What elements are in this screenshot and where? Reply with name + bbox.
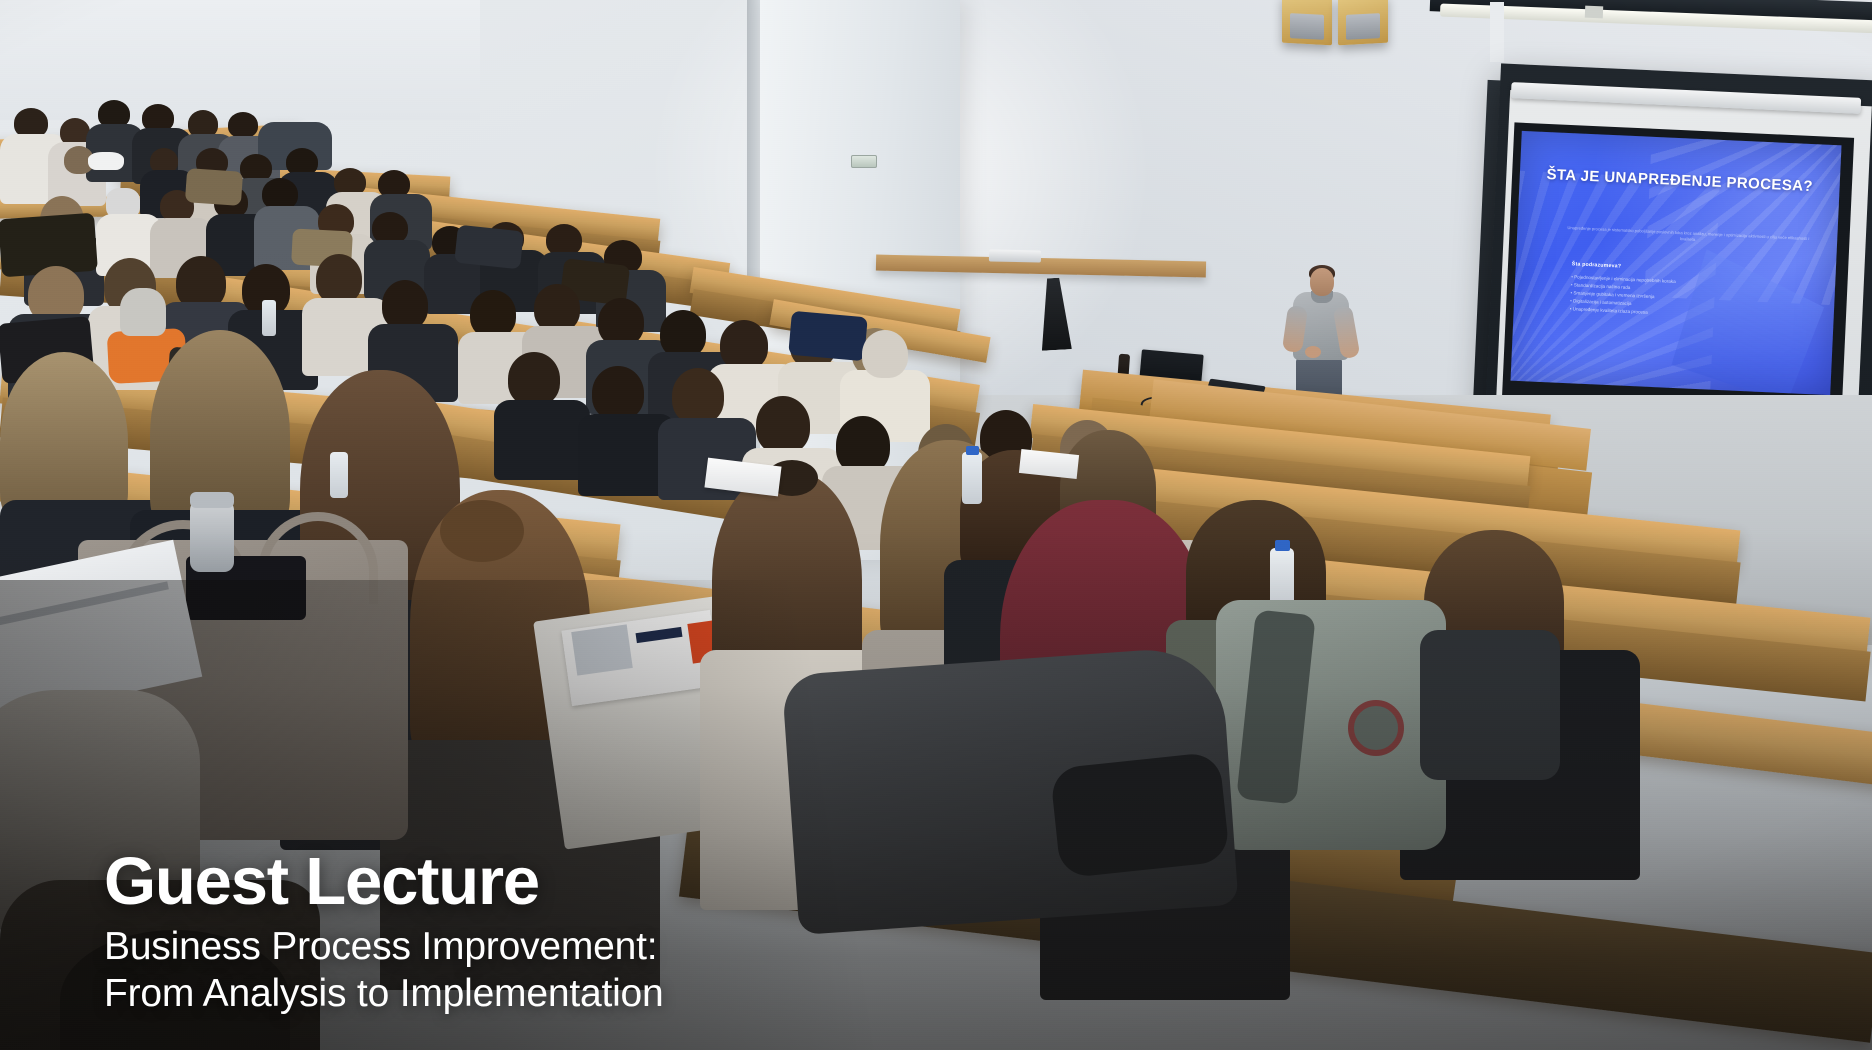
thermos-cap	[190, 492, 234, 508]
backpack-logo	[1348, 700, 1404, 756]
caption-title: Guest Lecture	[104, 846, 664, 917]
bag	[185, 168, 243, 206]
lecturer-head	[1310, 268, 1334, 296]
student-head	[316, 254, 362, 304]
screenshot-root: ŠTA JE UNAPREĐENJE PROCESA? Unapređenje …	[0, 0, 1872, 1050]
caption-block: Guest Lecture Business Process Improveme…	[104, 846, 664, 1018]
student-head	[470, 290, 516, 338]
bottle-cap	[1275, 540, 1290, 551]
student-head	[228, 112, 258, 138]
student-head	[660, 310, 706, 358]
student-head	[592, 366, 644, 420]
student-head	[534, 284, 580, 332]
caption-subtitle: Business Process Improvement: From Analy…	[104, 923, 664, 1018]
backpack-dark	[1420, 630, 1560, 780]
student-head	[598, 298, 644, 346]
ceiling-clip	[1585, 6, 1603, 19]
backpack	[788, 311, 868, 361]
student-cap	[88, 152, 124, 170]
water-bottle	[330, 452, 348, 498]
rail-object	[989, 249, 1041, 262]
thermos-bottle	[190, 500, 234, 572]
wall-fixture-icon	[851, 155, 877, 168]
student-head	[862, 330, 908, 378]
bottle-cap	[966, 446, 979, 455]
jacket-fold	[1050, 751, 1231, 878]
student-head	[382, 280, 428, 330]
tote-print-image	[571, 624, 633, 675]
backpack	[454, 225, 524, 270]
student-cap	[120, 288, 166, 336]
water-bottle	[262, 300, 276, 336]
hair-bun	[440, 500, 524, 562]
wall-strip	[1490, 2, 1504, 62]
student-head	[508, 352, 560, 406]
ceiling-speaker-icon	[1282, 0, 1332, 45]
water-bottle	[962, 452, 982, 504]
student-body	[494, 400, 590, 480]
student-head	[756, 396, 810, 454]
student-head	[720, 320, 768, 370]
upper-left-wall	[0, 0, 480, 120]
ceiling-speaker-icon	[1338, 0, 1388, 45]
lecturer-hand	[1305, 346, 1321, 358]
student-head	[672, 368, 724, 424]
presentation-slide: ŠTA JE UNAPREĐENJE PROCESA? Unapređenje …	[1510, 131, 1841, 395]
